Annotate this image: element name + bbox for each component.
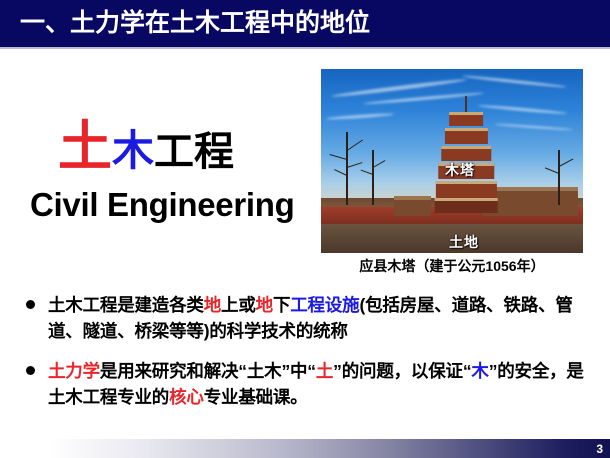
tree-trunk bbox=[558, 150, 560, 205]
tree-trunk bbox=[372, 150, 374, 205]
title-bar-underline bbox=[0, 47, 610, 49]
tree-branch bbox=[373, 160, 385, 168]
text-segment: 木 bbox=[471, 361, 488, 381]
tree-branch bbox=[330, 154, 347, 160]
text-segment: 工程设施 bbox=[290, 295, 359, 315]
text-segment: 地 bbox=[256, 295, 273, 315]
pagoda-base bbox=[435, 198, 498, 212]
text-segment: ”的问题，以保证“ bbox=[333, 361, 471, 381]
text-segment: 土力学 bbox=[48, 361, 100, 381]
page-number: 3 bbox=[596, 442, 603, 456]
page-title: 一、土力学在土木工程中的地位 bbox=[20, 7, 370, 39]
heading-chinese: 土木工程 bbox=[58, 120, 234, 174]
photo-label-muta: 木塔 bbox=[445, 160, 475, 180]
heading-char-tu: 土 bbox=[58, 117, 112, 177]
photo-caption: 应县木塔（建于公元1056年） bbox=[321, 256, 583, 276]
heading-char-mu: 木 bbox=[112, 127, 154, 174]
text-segment: 核心 bbox=[169, 387, 204, 407]
tree-branch bbox=[559, 158, 574, 166]
bullet-text-2: 土力学是用来研究和解决“土木”中“土”的问题，以保证“木”的安全，是土木工程专业… bbox=[48, 361, 584, 407]
text-segment: 土木工程是建造各类 bbox=[48, 295, 204, 315]
text-segment: 上或 bbox=[221, 295, 256, 315]
heading-word-gongcheng: 工程 bbox=[154, 130, 234, 174]
pagoda-photo-canvas: 木塔 土地 bbox=[321, 69, 583, 253]
side-hall-left bbox=[394, 196, 431, 216]
text-segment: 地 bbox=[204, 295, 221, 315]
pagoda-tier bbox=[445, 128, 487, 143]
bullet-dot-icon bbox=[26, 366, 35, 375]
pagoda-tier bbox=[450, 112, 484, 126]
pagoda-photo: 木塔 土地 bbox=[321, 69, 583, 253]
tree-trunk bbox=[346, 132, 348, 206]
bullet-item-1: 土木工程是建造各类地上或地下工程设施(包括房屋、道路、铁路、管道、隧道、桥梁等等… bbox=[24, 292, 586, 344]
footer-gradient-bar bbox=[0, 439, 610, 458]
pagoda-spire bbox=[465, 96, 467, 111]
bare-tree bbox=[541, 150, 578, 205]
bullet-item-2: 土力学是用来研究和解决“土木”中“土”的问题，以保证“木”的安全，是土木工程专业… bbox=[24, 358, 586, 410]
photo-label-tudi: 土地 bbox=[449, 232, 479, 252]
tree-branch bbox=[347, 139, 364, 151]
pagoda-tier bbox=[442, 146, 491, 161]
bare-tree bbox=[358, 150, 389, 205]
bullet-dot-icon bbox=[26, 300, 35, 309]
bullet-list: 土木工程是建造各类地上或地下工程设施(包括房屋、道路、铁路、管道、隧道、桥梁等等… bbox=[24, 292, 586, 424]
pagoda-tier bbox=[436, 181, 496, 199]
text-segment: 是用来研究和解决“土木”中“ bbox=[100, 361, 316, 381]
heading-english: Civil Engineering bbox=[30, 186, 294, 224]
slide-root: 一、土力学在土木工程中的地位 土木工程 Civil Engineering bbox=[0, 0, 610, 458]
bullet-text-1: 土木工程是建造各类地上或地下工程设施(包括房屋、道路、铁路、管道、隧道、桥梁等等… bbox=[48, 295, 573, 341]
text-segment: 专业基础课。 bbox=[204, 387, 308, 407]
text-segment: 下 bbox=[273, 295, 290, 315]
text-segment: 土 bbox=[316, 361, 333, 381]
